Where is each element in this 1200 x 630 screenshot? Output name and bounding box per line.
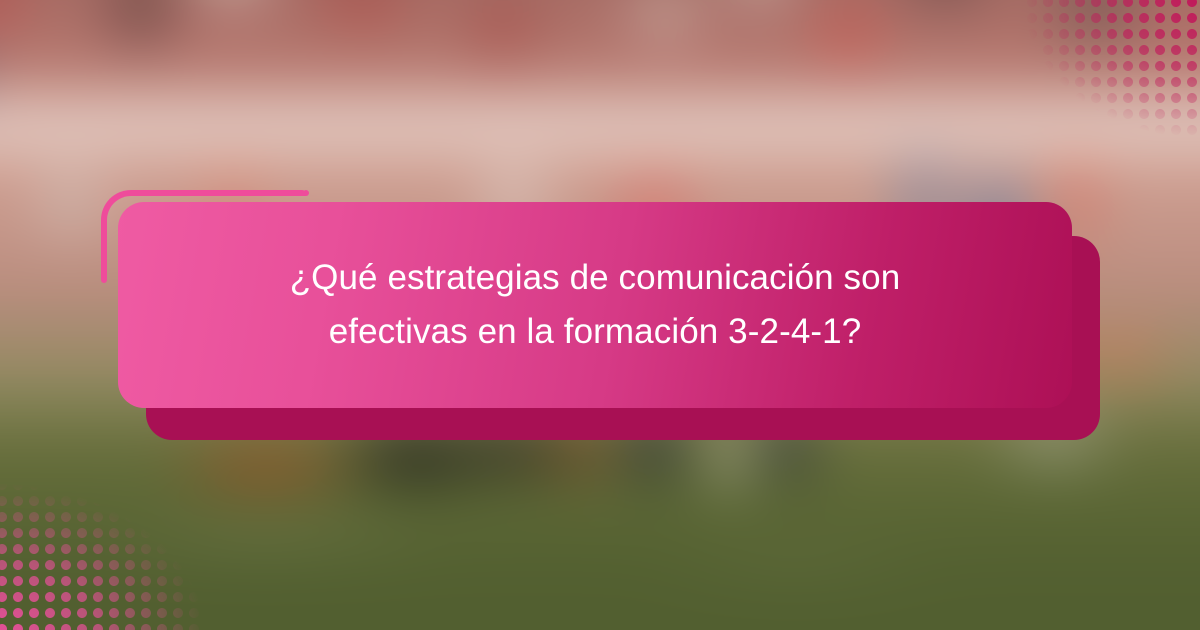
title-card: ¿Qué estrategias de comunicación son efe…	[118, 202, 1072, 408]
social-card-canvas: ¿Qué estrategias de comunicación son efe…	[0, 0, 1200, 630]
card-stack: ¿Qué estrategias de comunicación son efe…	[0, 0, 1200, 630]
page-title: ¿Qué estrategias de comunicación son efe…	[118, 251, 1072, 360]
